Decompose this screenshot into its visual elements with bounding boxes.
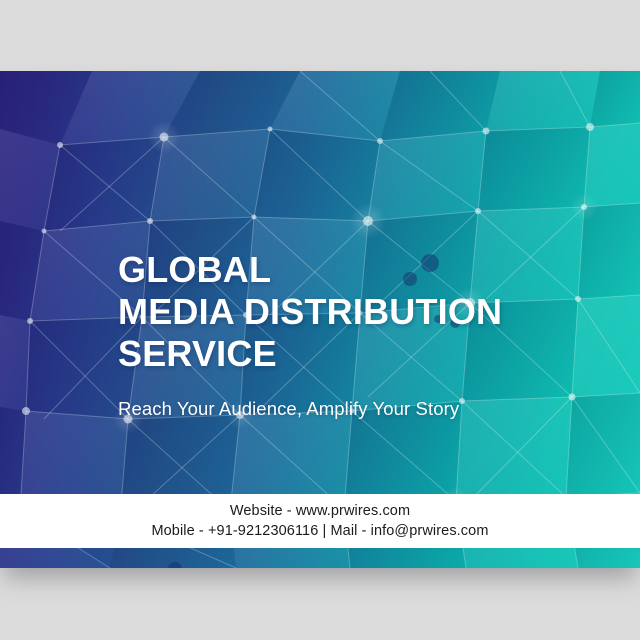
footer-contact-band: Website - www.prwires.com Mobile - +91-9…	[0, 494, 640, 548]
headline-line-1: GLOBAL	[118, 249, 588, 291]
banner-card: GLOBAL MEDIA DISTRIBUTION SERVICE Reach …	[0, 71, 640, 568]
headline-line-3: SERVICE	[118, 333, 588, 375]
footer-website-line: Website - www.prwires.com	[230, 501, 410, 521]
footer-contact-line: Mobile - +91-9212306116 | Mail - info@pr…	[151, 521, 488, 541]
headline-line-2: MEDIA DISTRIBUTION	[118, 291, 588, 333]
headline-block: GLOBAL MEDIA DISTRIBUTION SERVICE Reach …	[118, 249, 588, 421]
subtitle-tagline: Reach Your Audience, Amplify Your Story	[118, 397, 588, 421]
